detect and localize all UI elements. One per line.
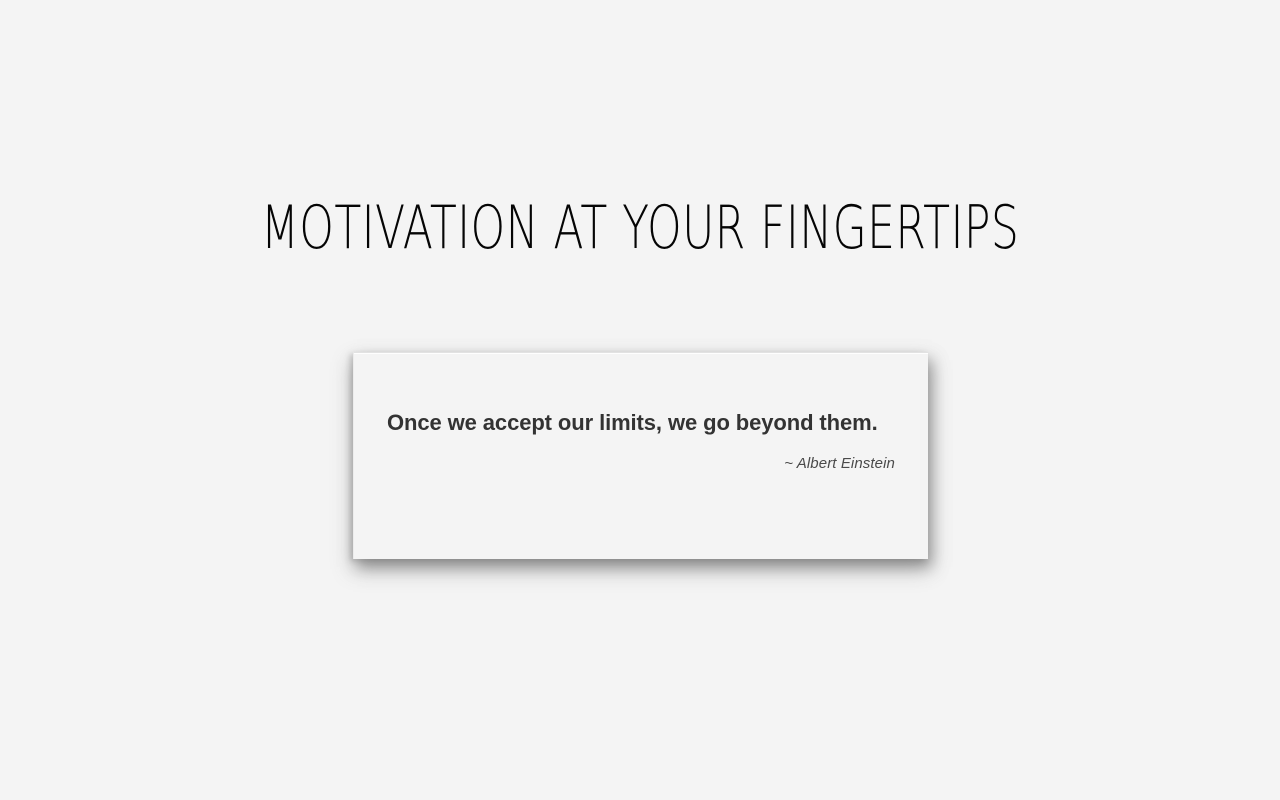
quote-author: ~ Albert Einstein [387,454,898,474]
page-title: MOTIVATION AT YOUR FINGERTIPS [170,194,1111,262]
quote-text: Once we accept our limits, we go beyond … [387,407,898,438]
quote-card: Once we accept our limits, we go beyond … [353,352,928,559]
app-root: MOTIVATION AT YOUR FINGERTIPS Once we ac… [0,0,1280,800]
quote-card-content: Once we accept our limits, we go beyond … [387,407,898,474]
